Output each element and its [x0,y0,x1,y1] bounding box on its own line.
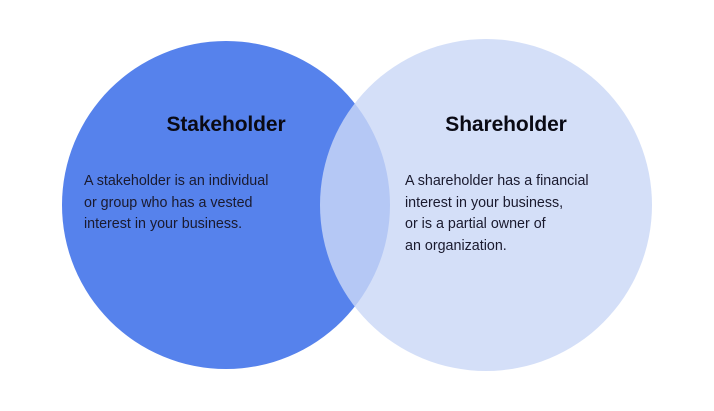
venn-body-shareholder: A shareholder has a financial interest i… [405,171,655,257]
venn-body-stakeholder: A stakeholder is an individual or group … [84,171,334,236]
venn-title-shareholder: Shareholder [342,113,670,137]
venn-title-stakeholder: Stakeholder [62,113,390,137]
venn-diagram-canvas: Stakeholder A stakeholder is an individu… [0,0,714,411]
venn-text-layer: Stakeholder A stakeholder is an individu… [0,0,714,411]
